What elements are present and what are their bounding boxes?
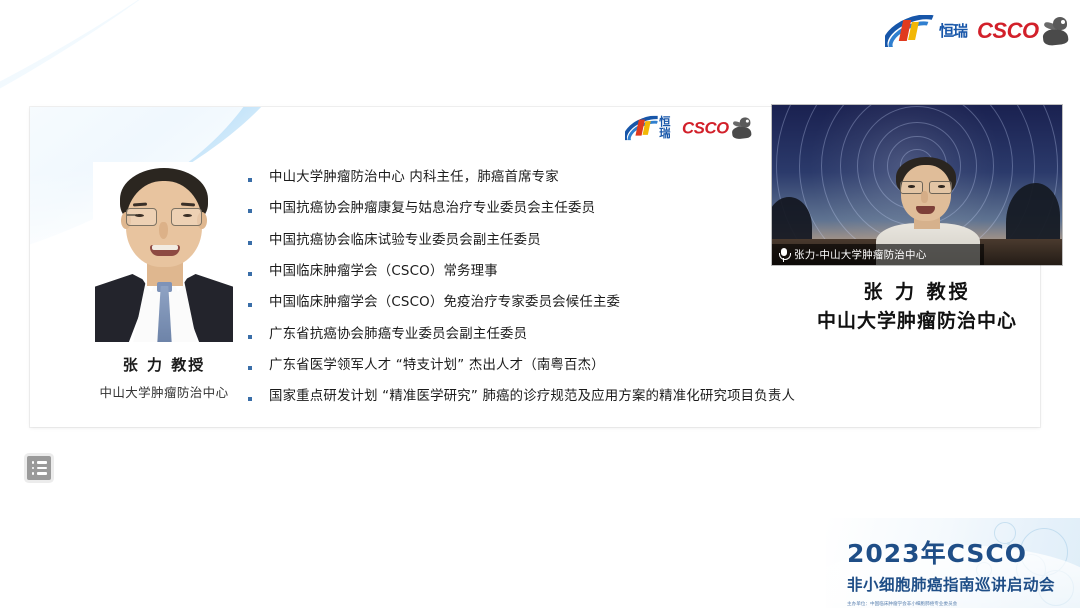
bullet-icon — [248, 272, 252, 276]
bullet-icon — [248, 366, 252, 370]
hengrui-logo-text: 恒瑞 — [939, 24, 967, 39]
speaker-block: 张 力 教授 中山大学肿瘤防治中心 — [74, 162, 254, 402]
list-view-button[interactable] — [27, 456, 51, 480]
list-item-label: 广东省医学领军人才 “特支计划” 杰出人才（南粤百杰） — [269, 358, 605, 374]
list-item-label: 中国临床肿瘤学会（CSCO）免疫治疗专家委员会候任主委 — [269, 295, 620, 311]
banner-subtitle: 非小细胞肺癌指南巡讲启动会 — [847, 573, 1080, 595]
hengrui-logo: 恒瑞 — [885, 15, 967, 47]
bullet-icon — [248, 178, 252, 182]
bullet-icon — [248, 335, 252, 339]
video-participant-name: 张力-中山大学肿瘤防治中心 — [794, 247, 926, 262]
csco-mascot-icon — [730, 117, 753, 140]
speaker-portrait-photo — [93, 162, 235, 342]
csco-logo-text: CSCO — [977, 18, 1039, 44]
page-event-banner: 2023年CSCO 非小细胞肺癌指南巡讲启动会 主办单位：中国临床肿瘤学会非小细… — [826, 518, 1080, 608]
list-item-label: 中国抗癌协会临床试验专业委员会副主任委员 — [269, 233, 541, 249]
csco-mascot-icon — [1040, 16, 1070, 46]
speaker-name: 张 力 教授 — [123, 354, 205, 375]
hengrui-mark-icon — [625, 116, 658, 140]
banner-fine-print-1: 主办单位：中国临床肿瘤学会非小细胞肺癌专业委员会 — [847, 601, 1080, 608]
video-caption-block: 张 力 教授 中山大学肿瘤防治中心 — [772, 277, 1062, 333]
csco-logo-text: CSCO — [682, 118, 729, 138]
list-item-label: 广东省抗癌协会肺癌专业委员会副主任委员 — [269, 327, 527, 343]
csco-logo: CSCO — [682, 117, 752, 140]
list-item-label: 中国临床肿瘤学会（CSCO）常务理事 — [269, 264, 498, 280]
list-item-label: 中国抗癌协会肿瘤康复与姑息治疗专业委员会主任委员 — [269, 201, 595, 217]
csco-logo: CSCO — [977, 16, 1070, 46]
list-item-label: 国家重点研发计划 “精准医学研究” 肺癌的诊疗规范及应用方案的精准化研究项目负责… — [269, 389, 795, 405]
bullet-icon — [248, 241, 252, 245]
bullet-icon — [248, 303, 252, 307]
list-item: 广东省医学领军人才 “特支计划” 杰出人才（南粤百杰） — [248, 358, 1008, 374]
speaker-affiliation: 中山大学肿瘤防治中心 — [99, 382, 228, 401]
microphone-icon — [778, 248, 789, 262]
list-item: 国家重点研发计划 “精准医学研究” 肺癌的诊疗规范及应用方案的精准化研究项目负责… — [248, 389, 1008, 405]
video-feed-panel[interactable]: 张力-中山大学肿瘤防治中心 — [772, 105, 1062, 265]
video-caption-affiliation: 中山大学肿瘤防治中心 — [772, 306, 1062, 333]
topbar-logo-group: 恒瑞 CSCO — [885, 8, 1070, 54]
video-nameplate: 张力-中山大学肿瘤防治中心 — [772, 244, 984, 265]
list-item-label: 中山大学肿瘤防治中心 内科主任，肺癌首席专家 — [269, 170, 559, 186]
slide-logo-group: 恒瑞 CSCO — [625, 114, 731, 143]
bullet-icon — [248, 209, 252, 213]
video-caption-name: 张 力 教授 — [772, 277, 1062, 304]
hengrui-logo: 恒瑞 — [625, 116, 677, 140]
banner-title: 2023年CSCO — [847, 534, 1080, 570]
hengrui-mark-icon — [885, 15, 937, 47]
bullet-icon — [248, 397, 252, 401]
hengrui-logo-text: 恒瑞 — [659, 117, 677, 140]
